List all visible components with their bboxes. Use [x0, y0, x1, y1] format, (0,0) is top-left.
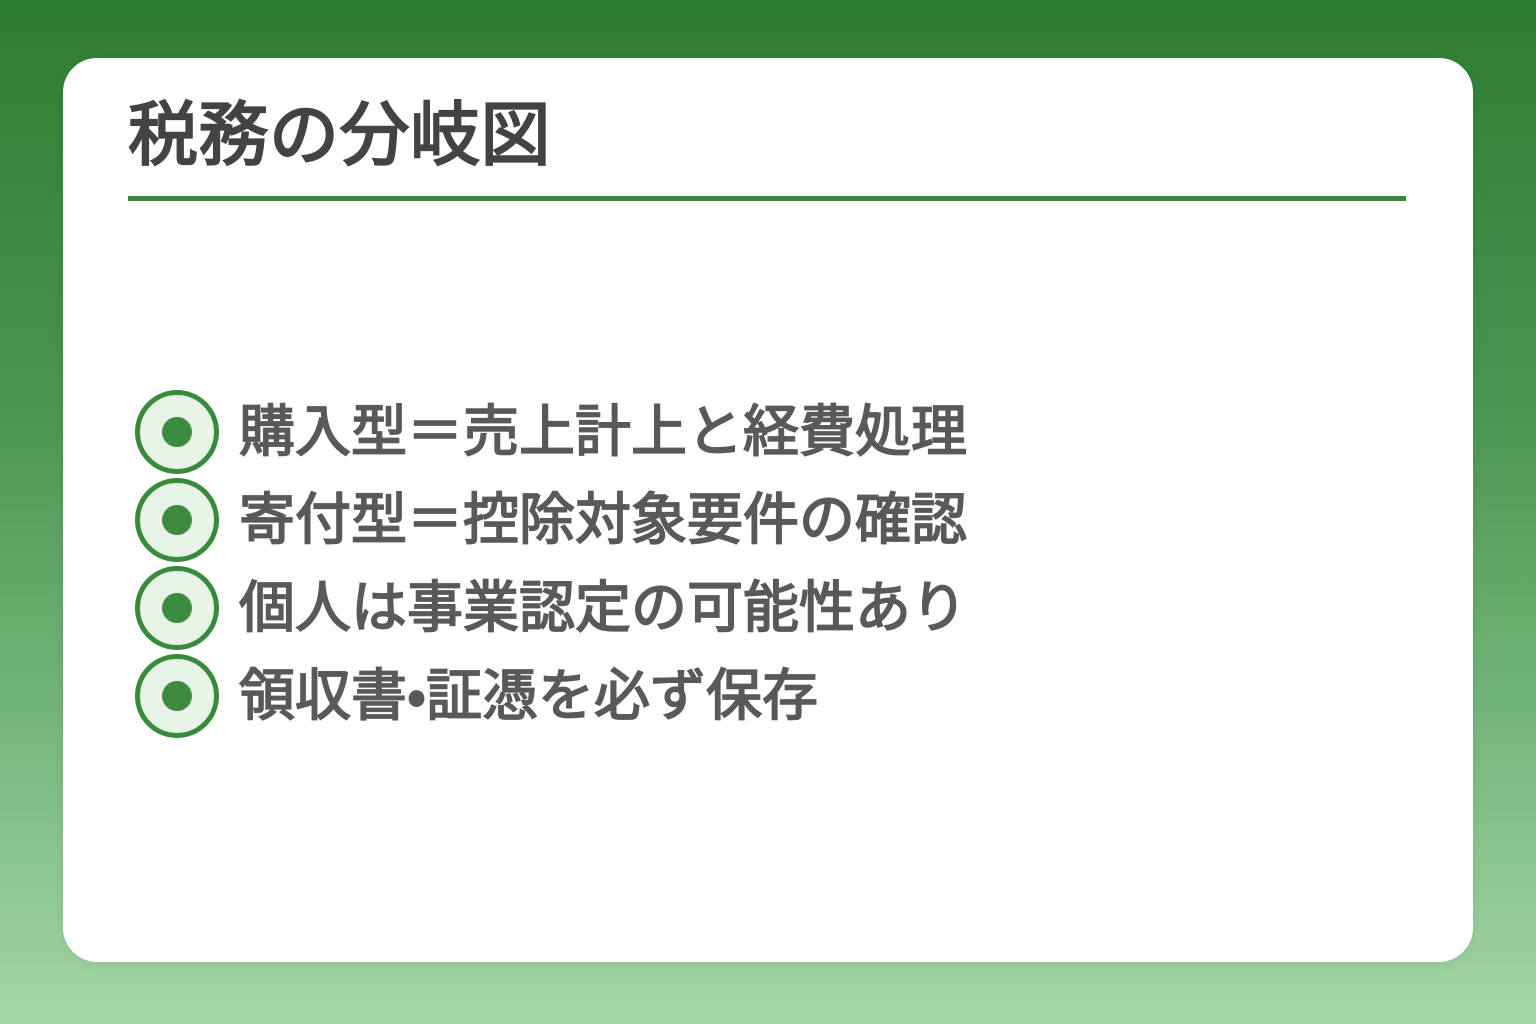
bullet-list: 購入型＝売上計上と経費処理 寄付型＝控除対象要件の確認 個人は事業認定の可能性あ…	[135, 388, 1405, 740]
bullet-circle-icon	[135, 654, 219, 738]
slide-background: 税務の分岐図 購入型＝売上計上と経費処理 寄付型＝控除対象要件の確認	[0, 0, 1536, 1024]
bullet-circle-icon	[135, 478, 219, 562]
list-item: 購入型＝売上計上と経費処理	[135, 388, 1405, 476]
bullet-dot-icon	[162, 681, 192, 711]
list-item-label: 寄付型＝控除対象要件の確認	[239, 489, 967, 551]
bullet-dot-icon	[162, 417, 192, 447]
bullet-dot-icon	[162, 505, 192, 535]
list-item-label: 購入型＝売上計上と経費処理	[239, 401, 967, 463]
title-underline-rule	[128, 196, 1406, 201]
list-item: 個人は事業認定の可能性あり	[135, 564, 1405, 652]
list-item-label: 領収書・証憑を必ず保存	[239, 665, 818, 727]
list-item-label: 個人は事業認定の可能性あり	[239, 577, 967, 639]
list-item: 寄付型＝控除対象要件の確認	[135, 476, 1405, 564]
title-block: 税務の分岐図	[128, 98, 1406, 201]
bullet-circle-icon	[135, 390, 219, 474]
bullet-dot-icon	[162, 593, 192, 623]
slide-card: 税務の分岐図 購入型＝売上計上と経費処理 寄付型＝控除対象要件の確認	[63, 58, 1473, 962]
list-item: 領収書・証憑を必ず保存	[135, 652, 1405, 740]
page-title: 税務の分岐図	[128, 98, 1406, 174]
bullet-circle-icon	[135, 566, 219, 650]
